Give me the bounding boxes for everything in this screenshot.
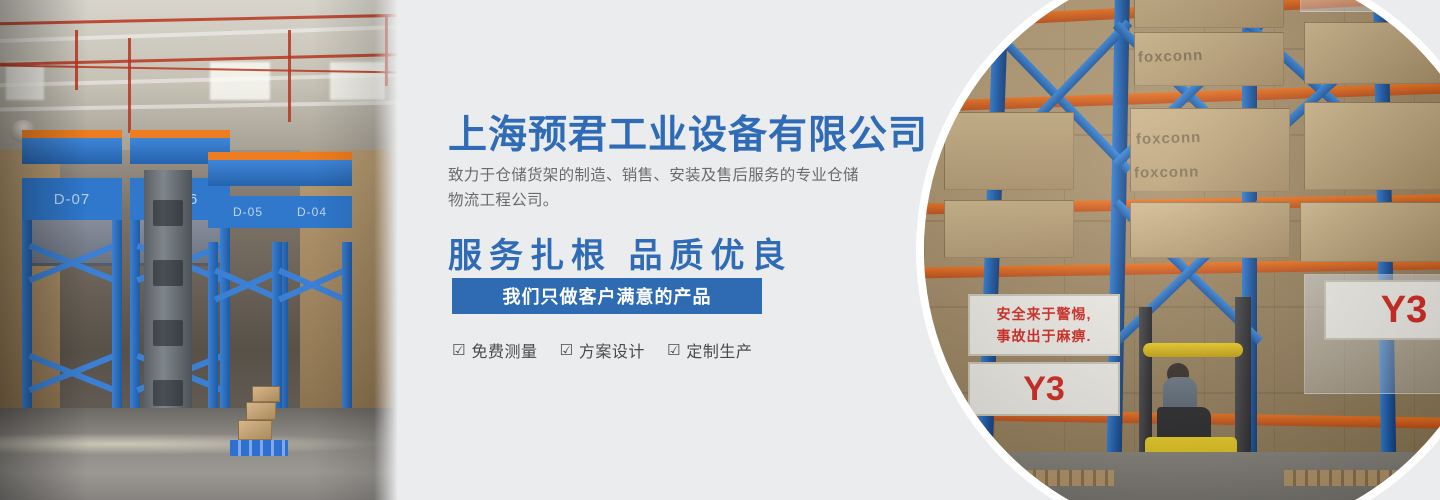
- aisle-sign-right: Y3: [1324, 280, 1440, 340]
- machine-slot: [153, 200, 183, 226]
- feature-item: ☑ 免费测量: [452, 338, 537, 362]
- carton: [944, 200, 1074, 258]
- rack-bay: D-04: [272, 152, 352, 410]
- ceiling-pipe: [0, 14, 400, 25]
- rack-frame: [272, 242, 352, 410]
- checkbox-checked-icon: ☑: [559, 343, 572, 358]
- rafter: [0, 25, 400, 44]
- right-warehouse-photo-wrap: foxconn foxconn foxconn foxconn 安全来于警惕, …: [916, 0, 1440, 500]
- carton: [1304, 22, 1440, 84]
- stretch-wrapped-pallet: [1300, 0, 1440, 12]
- cardboard-box: [238, 420, 272, 440]
- carton: [1134, 0, 1284, 28]
- company-subtitle: 致力于仓储货架的制造、销售、安装及售后服务的专业仓储物流工程公司。: [448, 163, 868, 213]
- rack-label: D-07: [22, 178, 122, 220]
- safety-sign: 安全来于警惕, 事故出于麻痹.: [968, 294, 1120, 356]
- rack-frame: [22, 220, 122, 430]
- right-warehouse-photo: foxconn foxconn foxconn foxconn 安全来于警惕, …: [924, 0, 1440, 500]
- blue-pallet: [230, 440, 288, 456]
- feature-item: ☑ 方案设计: [559, 338, 644, 362]
- machine-slot: [153, 260, 183, 286]
- feature-item: ☑ 定制生产: [667, 338, 752, 362]
- hero-banner: D-07 D-06 D-05: [0, 0, 1440, 500]
- aisle-sign: Y3: [968, 362, 1120, 416]
- carton-brand-text: foxconn: [1138, 47, 1204, 66]
- feature-label: 方案设计: [579, 338, 645, 362]
- carton: [1300, 202, 1440, 262]
- ceiling-pipe: [128, 38, 131, 133]
- left-warehouse-photo: D-07 D-06 D-05: [0, 0, 400, 500]
- rack-deck: [272, 152, 352, 186]
- warehouse-floor: [0, 408, 400, 500]
- checkbox-checked-icon: ☑: [667, 343, 680, 358]
- wooden-pallet: [964, 470, 1114, 486]
- feature-label: 免费测量: [471, 338, 537, 362]
- photo-right-fade: [374, 0, 400, 500]
- stacker-machine: [144, 170, 192, 412]
- wooden-pallet: [1284, 470, 1440, 486]
- photo-clip: foxconn foxconn foxconn foxconn 安全来于警惕, …: [924, 0, 1440, 500]
- rack-label: D-04: [272, 196, 352, 228]
- rack-deck: [22, 130, 122, 164]
- machine-slot: [153, 320, 183, 346]
- cardboard-box: [252, 386, 280, 402]
- company-title: 上海预君工业设备有限公司: [448, 104, 928, 160]
- feature-label: 定制生产: [686, 338, 752, 362]
- machine-slot: [153, 380, 183, 406]
- forklift-overhead-guard: [1143, 343, 1243, 357]
- carton: [944, 112, 1074, 190]
- safety-sign-line-1: 安全来于警惕,: [997, 303, 1092, 325]
- ceiling-pipe: [288, 30, 291, 122]
- safety-sign-line-2: 事故出于麻痹.: [997, 325, 1092, 347]
- skylight: [6, 62, 44, 100]
- cta-button[interactable]: 我们只做客户满意的产品: [452, 278, 762, 314]
- feature-list: ☑ 免费测量 ☑ 方案设计 ☑ 定制生产: [452, 338, 752, 362]
- carton: [1304, 102, 1440, 190]
- checkbox-checked-icon: ☑: [452, 343, 465, 358]
- carton-brand-text: foxconn: [1134, 163, 1200, 181]
- slogan: 服务扎根 品质优良: [448, 228, 792, 277]
- rafter: [0, 100, 400, 111]
- ceiling-pipe: [75, 30, 78, 90]
- ceiling: [0, 0, 400, 150]
- cardboard-box: [246, 402, 276, 420]
- floor-light-reflection: [0, 433, 400, 455]
- carton: [1130, 202, 1290, 258]
- carton-brand-text: foxconn: [1136, 129, 1202, 148]
- forklift-seat: [1157, 407, 1211, 441]
- rack-bay: D-07: [22, 130, 122, 430]
- center-content: 上海预君工业设备有限公司 致力于仓储货架的制造、销售、安装及售后服务的专业仓储物…: [400, 0, 960, 500]
